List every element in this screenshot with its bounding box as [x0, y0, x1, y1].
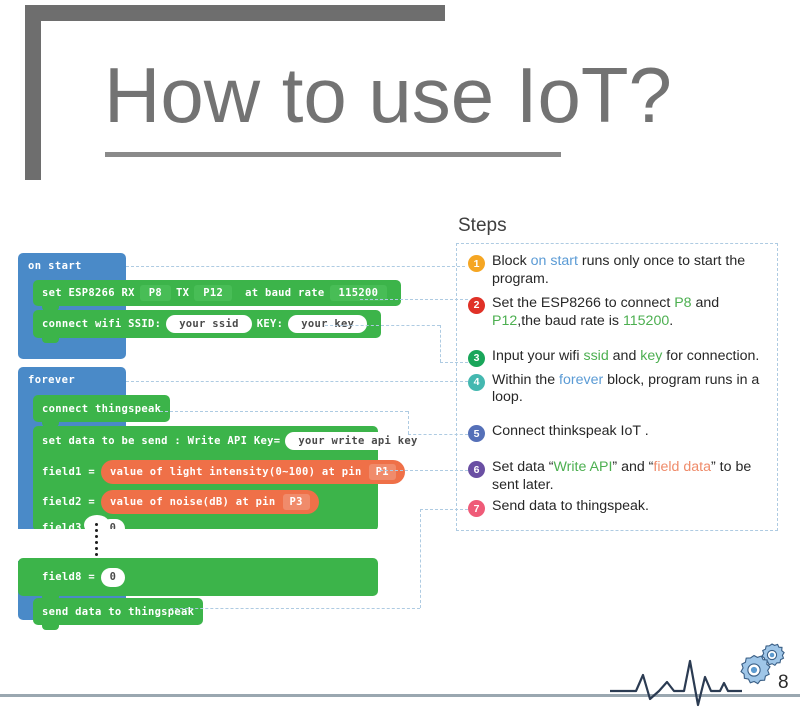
- step-badge-4: 4: [468, 374, 485, 391]
- step-text-fragment: P12: [492, 313, 517, 329]
- set-esp-tx-pin[interactable]: P12: [194, 285, 232, 301]
- set-esp-rx-pin[interactable]: P8: [140, 285, 171, 301]
- connector-step6-a: [380, 470, 468, 471]
- block-set-esp8266[interactable]: set ESP8266 RX P8 TX P12 at baud rate 11…: [33, 280, 401, 306]
- page-title: How to use IoT?: [104, 56, 672, 134]
- header-bracket-top: [25, 5, 445, 21]
- field8-label: field8 =: [42, 571, 95, 583]
- step-item-7: 7Send data to thingspeak.: [468, 498, 768, 517]
- step-text-fragment: 115200: [623, 313, 669, 329]
- step-text-fragment: Block: [492, 253, 531, 269]
- block-field8[interactable]: field8 = 0: [33, 562, 134, 592]
- field2-label: field2 =: [42, 496, 95, 508]
- block-field2[interactable]: field2 = value of noise(dB) at pin P3: [33, 489, 328, 515]
- step-item-6: 6Set data “Write API” and “field data” t…: [468, 459, 768, 495]
- connector-step2-a: [360, 299, 468, 300]
- connector-step5-a: [160, 411, 408, 412]
- connector-step7-a: [170, 608, 420, 609]
- step-text-4: Within the forever block, program runs i…: [492, 372, 764, 408]
- step-text-fragment: forever: [559, 372, 603, 388]
- step-text-fragment: .: [669, 313, 673, 329]
- step-text-fragment: field data: [653, 459, 711, 475]
- step-text-1: Block on start runs only once to start t…: [492, 253, 764, 289]
- step-text-fragment: Within the: [492, 372, 559, 388]
- step-text-fragment: ,the baud rate is: [517, 313, 623, 329]
- heartbeat-waveform-icon: [610, 655, 742, 707]
- block-connect-thingspeak[interactable]: connect thingspeak: [33, 395, 170, 422]
- field8-value-input[interactable]: 0: [101, 568, 125, 587]
- connect-wifi-key-label: KEY:: [257, 318, 284, 330]
- step-text-fragment: P8: [674, 295, 691, 311]
- reporter-noise-text: value of noise(dB) at pin: [110, 496, 276, 508]
- step-text-fragment: and: [609, 348, 641, 364]
- step-text-5: Connect thinkspeak IoT .: [492, 423, 649, 441]
- step-text-fragment: Input your wifi: [492, 348, 583, 364]
- connector-step4: [126, 381, 468, 382]
- connect-thingspeak-label: connect thingspeak: [42, 403, 161, 415]
- step-badge-1: 1: [468, 255, 485, 272]
- step-text-fragment: Connect thinkspeak IoT .: [492, 423, 649, 439]
- step-text-2: Set the ESP8266 to connect P8 and P12,th…: [492, 295, 764, 331]
- step-text-fragment: Set the ESP8266 to connect: [492, 295, 674, 311]
- step-badge-6: 6: [468, 461, 485, 478]
- title-underline: [105, 152, 561, 157]
- step-item-2: 2Set the ESP8266 to connect P8 and P12,t…: [468, 295, 768, 331]
- step-badge-5: 5: [468, 425, 485, 442]
- block-notch: [42, 625, 59, 630]
- step-text-fragment: key: [640, 348, 662, 364]
- block-connect-wifi[interactable]: connect wifi SSID: your ssid KEY: your k…: [33, 310, 381, 338]
- step-text-fragment: for connection.: [662, 348, 759, 364]
- block-field1[interactable]: field1 = value of light intensity(0~100)…: [33, 459, 414, 485]
- set-esp-baud-label: at baud rate: [245, 287, 324, 299]
- reporter-light-intensity-pin[interactable]: P1: [369, 464, 396, 480]
- step-text-fragment: on start: [531, 253, 578, 269]
- step-text-fragment: Write API: [554, 459, 613, 475]
- wifi-ssid-input[interactable]: your ssid: [166, 315, 252, 333]
- block-set-data[interactable]: set data to be send : Write API Key= you…: [33, 426, 445, 456]
- steps-heading: Steps: [458, 215, 507, 237]
- connector-step3-a: [325, 325, 440, 326]
- page-number: 8: [778, 672, 789, 694]
- step-text-fragment: and: [692, 295, 720, 311]
- header-bracket-left: [25, 5, 41, 180]
- step-text-fragment: ssid: [583, 348, 608, 364]
- connector-step5-b: [408, 411, 409, 434]
- reporter-noise-pin[interactable]: P3: [283, 494, 310, 510]
- reporter-light-intensity-text: value of light intensity(0~100) at pin: [110, 466, 362, 478]
- connector-step7-b: [420, 509, 421, 608]
- step-badge-3: 3: [468, 350, 485, 367]
- blocks-truncation-gap: [0, 529, 450, 561]
- wifi-key-input[interactable]: your key: [288, 315, 367, 333]
- set-data-prefix: set data to be send : Write API Key=: [42, 435, 280, 447]
- set-esp-tx-label: TX: [176, 287, 189, 299]
- connector-step1: [126, 266, 465, 267]
- step-badge-7: 7: [468, 500, 485, 517]
- step-text-fragment: ” and “: [612, 459, 653, 475]
- block-notch: [42, 338, 59, 343]
- step-item-1: 1Block on start runs only once to start …: [468, 253, 768, 289]
- step-text-fragment: Send data to thingspeak.: [492, 498, 649, 514]
- step-text-6: Set data “Write API” and “field data” to…: [492, 459, 764, 495]
- reporter-light-intensity[interactable]: value of light intensity(0~100) at pin P…: [101, 460, 405, 484]
- block-send-data[interactable]: send data to thingspeak: [33, 598, 203, 625]
- connect-wifi-prefix: connect wifi SSID:: [42, 318, 161, 330]
- step-text-fragment: Set data “: [492, 459, 554, 475]
- block-forever-label: forever: [28, 374, 75, 386]
- block-on-start-label: on start: [28, 260, 82, 272]
- reporter-noise[interactable]: value of noise(dB) at pin P3: [101, 490, 319, 514]
- step-badge-2: 2: [468, 297, 485, 314]
- field1-label: field1 =: [42, 466, 95, 478]
- steps-list: 1Block on start runs only once to start …: [468, 253, 768, 521]
- step-item-4: 4Within the forever block, program runs …: [468, 372, 768, 408]
- step-text-7: Send data to thingspeak.: [492, 498, 649, 516]
- vertical-ellipsis-icon: [95, 523, 98, 556]
- step-text-3: Input your wifi ssid and key for connect…: [492, 348, 759, 366]
- step-item-3: 3Input your wifi ssid and key for connec…: [468, 348, 768, 367]
- connector-step3-b: [440, 325, 441, 362]
- blocks-canvas: on start set ESP8266 RX P8 TX P12 at bau…: [0, 240, 450, 640]
- step-item-5: 5Connect thinkspeak IoT .: [468, 423, 768, 442]
- set-esp-prefix: set ESP8266 RX: [42, 287, 135, 299]
